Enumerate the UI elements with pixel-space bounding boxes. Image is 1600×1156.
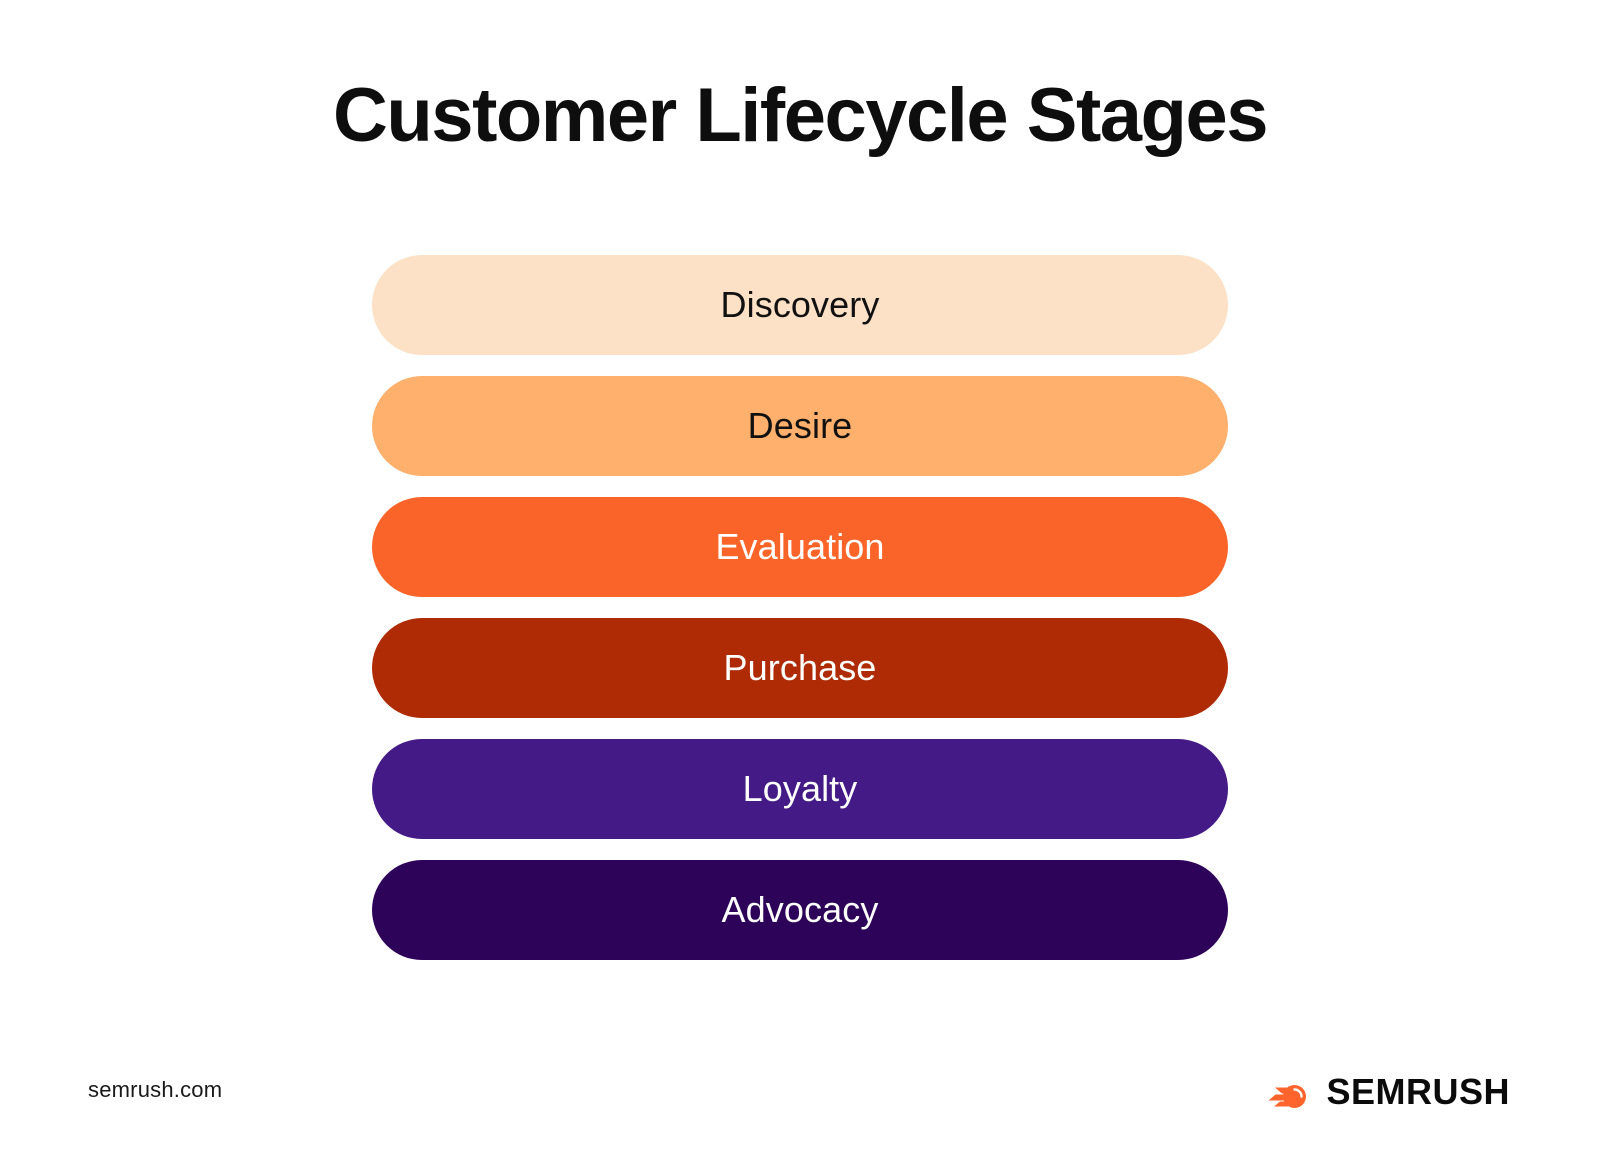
semrush-wordmark: SEMRUSH [1326,1074,1510,1110]
stage-bar-desire: Desire [372,376,1228,476]
semrush-logo: SEMRUSH [1262,1068,1510,1116]
stage-bar-discovery: Discovery [372,255,1228,355]
stage-label-purchase: Purchase [724,650,877,686]
stage-bar-purchase: Purchase [372,618,1228,718]
stage-bar-evaluation: Evaluation [372,497,1228,597]
footer-source-url: semrush.com [88,1077,222,1103]
page-title: Customer Lifecycle Stages [0,78,1600,154]
stage-label-evaluation: Evaluation [715,529,884,565]
lifecycle-stage-list: Discovery Desire Evaluation Purchase Loy… [372,255,1228,960]
semrush-comet-icon [1262,1072,1312,1112]
stage-label-desire: Desire [748,408,853,444]
stage-label-loyalty: Loyalty [743,771,858,807]
infographic-canvas: Customer Lifecycle Stages Discovery Desi… [0,0,1600,1156]
stage-label-advocacy: Advocacy [722,892,879,928]
stage-bar-advocacy: Advocacy [372,860,1228,960]
stage-bar-loyalty: Loyalty [372,739,1228,839]
stage-label-discovery: Discovery [721,287,880,323]
